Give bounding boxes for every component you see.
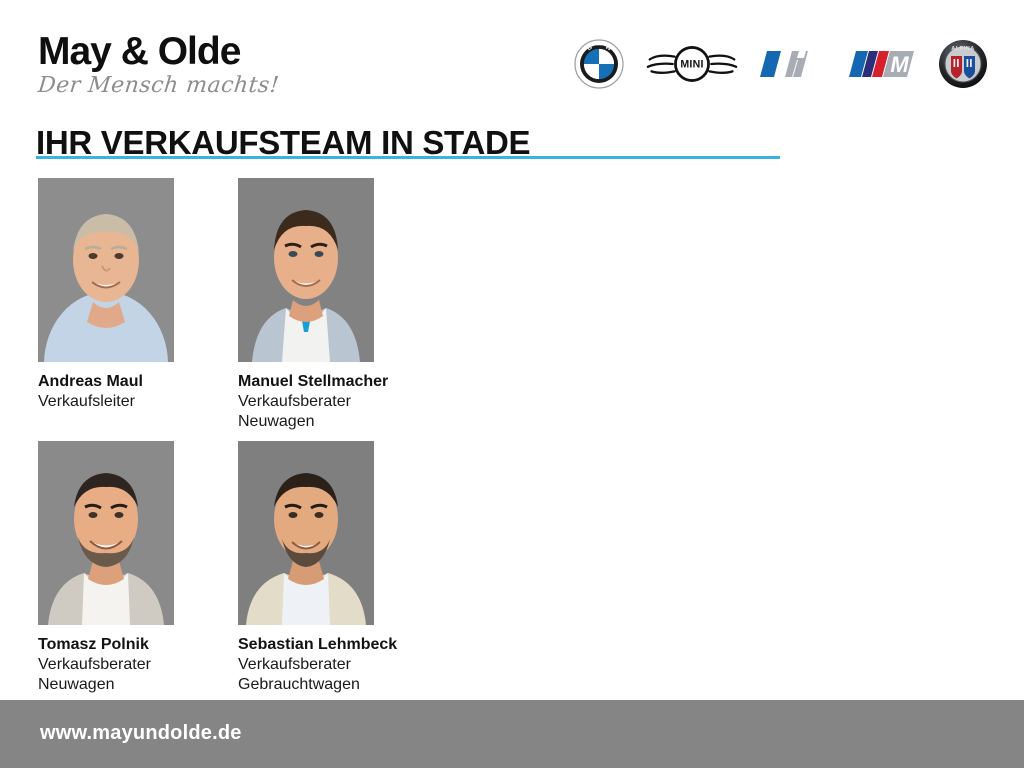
member-role: Verkaufsberater Neuwagen xyxy=(238,392,438,433)
mini-logo: MINI xyxy=(646,41,738,87)
brand-block: May & Olde Der Mensch machts! xyxy=(38,32,338,98)
team-member-card: Andreas Maul Verkaufsleiter xyxy=(38,178,238,433)
team-member-card: Sebastian Lehmbeck Verkaufsberater Gebra… xyxy=(238,441,438,696)
member-name: Sebastian Lehmbeck xyxy=(238,635,438,655)
team-member-card: Manuel Stellmacher Verkaufsberater Neuwa… xyxy=(238,178,438,433)
bmw-m-logo: M xyxy=(848,48,916,80)
member-role-line: Neuwagen xyxy=(38,675,238,695)
svg-text:ALPINA: ALPINA xyxy=(951,46,974,52)
page-header: May & Olde Der Mensch machts! B M W xyxy=(0,0,1024,108)
member-name: Andreas Maul xyxy=(38,372,238,392)
page-footer: www.mayundolde.de xyxy=(0,700,1024,768)
member-role-line: Neuwagen xyxy=(238,412,438,432)
brand-logo-strip: B M W MINI xyxy=(574,34,988,94)
member-role-line: Gebrauchtwagen xyxy=(238,675,438,695)
team-row: Tomasz Polnik Verkaufsberater Neuwagen xyxy=(38,441,478,696)
team-row: Andreas Maul Verkaufsleiter xyxy=(38,178,478,433)
bmw-i-logo xyxy=(760,48,826,80)
company-tagline: Der Mensch machts! xyxy=(37,73,340,98)
alpina-logo: ALPINA xyxy=(938,39,988,89)
portrait-photo-sebastian-lehmbeck xyxy=(238,441,374,625)
team-grid: Andreas Maul Verkaufsleiter xyxy=(38,178,478,696)
footer-website-url[interactable]: www.mayundolde.de xyxy=(40,722,242,745)
svg-text:M: M xyxy=(596,41,601,48)
svg-text:M: M xyxy=(890,52,909,77)
bmw-logo: B M W xyxy=(574,39,624,89)
member-role: Verkaufsberater Neuwagen xyxy=(38,655,238,696)
member-role-line: Verkaufsberater xyxy=(238,655,438,675)
member-role-line: Verkaufsberater xyxy=(38,655,238,675)
member-role-line: Verkaufsleiter xyxy=(38,392,238,412)
portrait-photo-manuel-stellmacher xyxy=(238,178,374,362)
member-role-line: Verkaufsberater xyxy=(238,392,438,412)
portrait-photo-tomasz-polnik xyxy=(38,441,174,625)
member-name: Manuel Stellmacher xyxy=(238,372,438,392)
portrait-photo-andreas-maul xyxy=(38,178,174,362)
team-member-card: Tomasz Polnik Verkaufsberater Neuwagen xyxy=(38,441,238,696)
company-name: May & Olde xyxy=(38,32,338,71)
title-underline-rule xyxy=(36,156,780,159)
svg-text:MINI: MINI xyxy=(680,59,703,71)
member-role: Verkaufsleiter xyxy=(38,392,238,412)
member-role: Verkaufsberater Gebrauchtwagen xyxy=(238,655,438,696)
member-name: Tomasz Polnik xyxy=(38,635,238,655)
